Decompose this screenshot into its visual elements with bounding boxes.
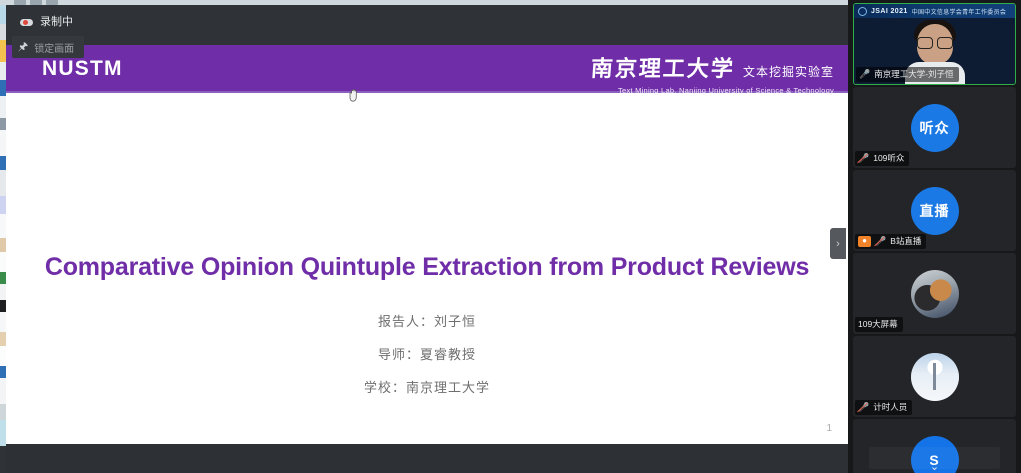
participant-tile-bigscreen[interactable]: 109大屏幕 [853,253,1016,334]
chevron-down-icon[interactable]: ⌄ [930,460,939,473]
pin-icon: 🖈 [18,42,28,53]
university-name-cn: 南京理工大学 [590,51,736,83]
lock-screen-tooltip[interactable]: 🖈 锁定画面 [12,36,84,58]
recording-indicator[interactable]: 录制中 [20,17,73,28]
jsai-banner-subtitle: 中国中文信息学会青年工作委员会 [912,7,1007,16]
meeting-window: 录制中 🖈 锁定画面 NUSTM 南京理工大学 文本挖掘实验室 Text Min… [0,0,1021,473]
microphone-muted-icon: 🎤 [875,237,886,246]
lab-name-cn: 文本挖掘实验室 [743,63,834,80]
participant-name: 109大屏幕 [858,318,898,330]
participant-tile-timekeeper[interactable]: 🎤 计时人员 [853,336,1016,417]
participant-name: 计时人员 [873,401,907,413]
nustm-logo: NUSTM [42,57,123,81]
participant-name: 109听众 [873,152,904,164]
microphone-muted-icon: 🎤 [858,403,869,412]
jsai-banner: JSAI 2021 中国中文信息学会青年工作委员会 [854,4,1015,18]
lab-name-en: Text Mining Lab, Nanjing University of S… [591,86,834,95]
slide-title: Comparative Opinion Quintuple Extraction… [6,253,848,282]
lab-logo: 南京理工大学 文本挖掘实验室 Text Mining Lab, Nanjing … [591,51,834,95]
subtitle-school: 学校：南京理工大学 [6,377,848,396]
recording-label: 录制中 [40,17,73,28]
slide-subtitle-block: 报告人：刘子恒 导师：夏睿教授 学校：南京理工大学 [6,311,848,410]
avatar-photo [911,353,959,401]
participant-name: 南京理工大学-刘子恒 [874,68,953,80]
avatar-photo [911,270,959,318]
avatar [911,353,959,401]
jsai-seal-icon [858,7,867,16]
participant-name-chip: ● 🎤 B站直播 [855,234,926,249]
host-icon: ● [858,236,871,247]
participant-name-chip: 🎤 计时人员 [855,400,912,415]
avatar: 直播 [911,187,959,235]
participant-name-chip: 🎤 南京理工大学-刘子恒 [856,67,959,82]
participant-tile-s[interactable]: S ⌄ [853,419,1016,473]
glasses-icon [917,37,953,47]
participant-name-chip: 109大屏幕 [855,317,903,332]
microphone-icon: 🎤 [859,70,870,79]
shared-screen-stage[interactable]: NUSTM 南京理工大学 文本挖掘实验室 Text Mining Lab, Na… [6,45,848,444]
chevron-right-icon[interactable]: › [830,228,846,259]
avatar: 听众 [911,104,959,152]
subtitle-presenter: 报告人：刘子恒 [6,311,848,330]
subtitle-advisor: 导师：夏睿教授 [6,344,848,363]
meeting-top-toolbar: 录制中 [6,5,848,45]
participant-tile-speaker[interactable]: JSAI 2021 中国中文信息学会青年工作委员会 ^ 🎤 南京理工大学-刘子恒 [853,3,1016,85]
participant-rail[interactable]: JSAI 2021 中国中文信息学会青年工作委员会 ^ 🎤 南京理工大学-刘子恒… [848,0,1021,473]
participant-tile-livestream[interactable]: 直播 ● 🎤 B站直播 [853,170,1016,251]
slide-page-number: 1 [826,423,832,434]
lock-screen-label: 锁定画面 [34,40,74,55]
jsai-banner-title: JSAI 2021 [871,8,908,15]
microphone-muted-icon: 🎤 [858,154,869,163]
avatar [911,270,959,318]
participant-tile-audience[interactable]: 听众 🎤 109听众 [853,87,1016,168]
participant-name-chip: 🎤 109听众 [855,151,909,166]
participant-name: B站直播 [890,235,921,247]
cloud-record-icon [20,18,33,27]
